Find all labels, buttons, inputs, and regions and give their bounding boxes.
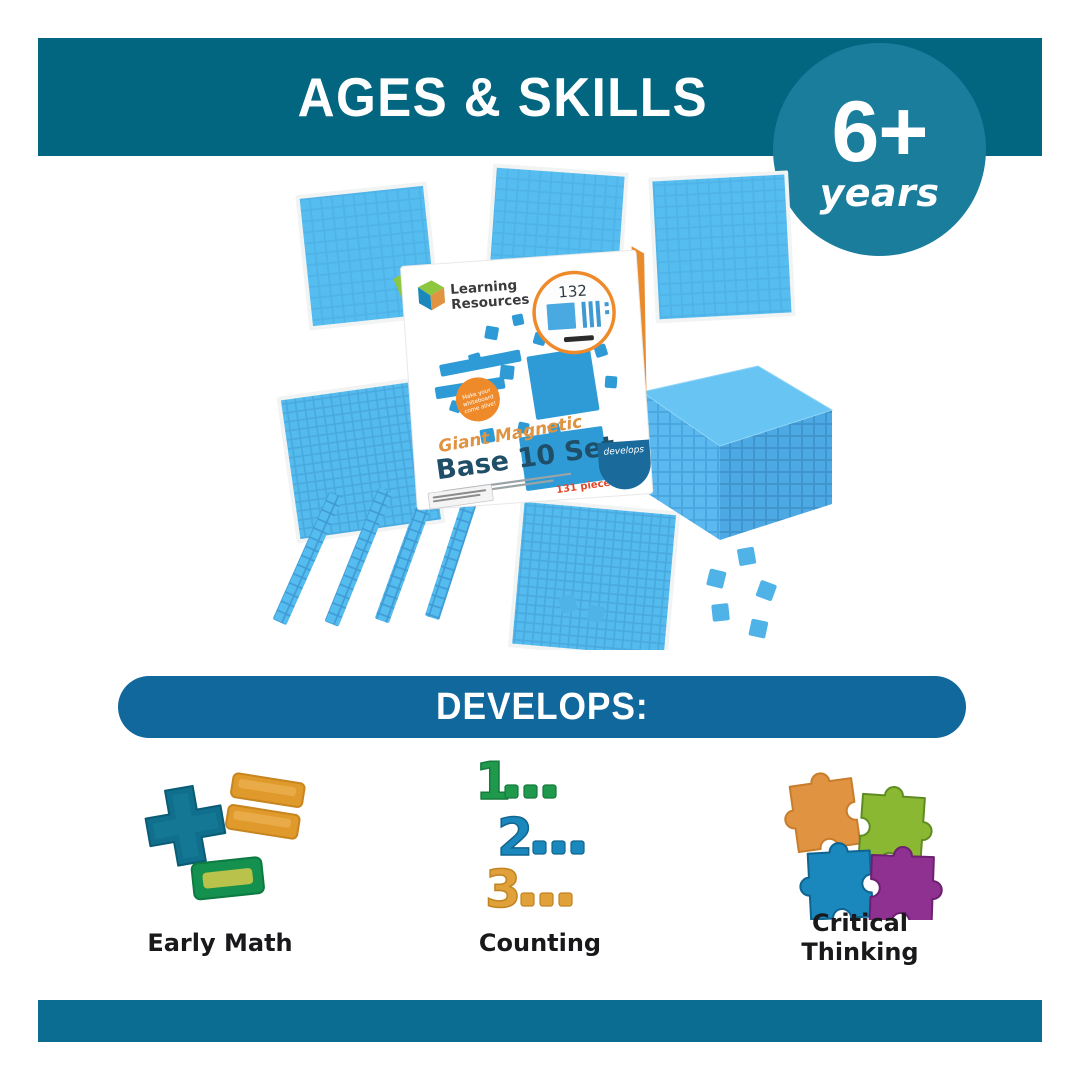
develops-banner: DEVELOPS:	[118, 676, 966, 738]
footer-bar	[38, 1000, 1042, 1042]
magnifier-number: 132	[558, 282, 588, 302]
numeral-one-group: 1	[475, 755, 556, 812]
skill-critical-thinking: Critical Thinking	[710, 755, 1010, 1000]
math-symbols-icon	[125, 755, 315, 925]
skill-early-math: Early Math	[70, 755, 370, 1000]
skill-label-critical-thinking: Critical Thinking	[801, 909, 918, 967]
skill-label-line-1: Critical	[801, 909, 918, 938]
numeral-two-group: 2	[497, 808, 584, 868]
skills-row: Early Math 1 2	[60, 755, 1020, 1000]
skill-label-counting: Counting	[479, 929, 601, 958]
numeral-three: 3	[485, 860, 521, 920]
skill-label-line-2: Thinking	[801, 938, 918, 967]
hundreds-flat	[648, 170, 795, 323]
ages-and-skills-page: AGES & SKILLS 6+ years	[0, 0, 1080, 1080]
skill-counting: 1 2	[390, 755, 690, 1000]
minus-sign	[191, 857, 264, 900]
skill-label-early-math: Early Math	[147, 929, 292, 958]
develops-label: DEVELOPS:	[436, 686, 649, 729]
equals-sign	[225, 773, 305, 840]
box-decor-flat	[526, 347, 599, 420]
product-box: Learning Resources	[392, 245, 661, 510]
hundreds-flat	[508, 498, 680, 650]
plus-sign	[141, 782, 229, 870]
numbers-123-icon: 1 2	[445, 755, 635, 925]
numeral-three-group: 3	[485, 860, 572, 920]
product-hero-image: Learning Resources	[250, 160, 850, 650]
numeral-one: 1	[475, 755, 511, 812]
numeral-two: 2	[497, 808, 533, 868]
puzzle-piece-orange	[780, 769, 861, 853]
puzzle-pieces-icon	[765, 755, 955, 925]
